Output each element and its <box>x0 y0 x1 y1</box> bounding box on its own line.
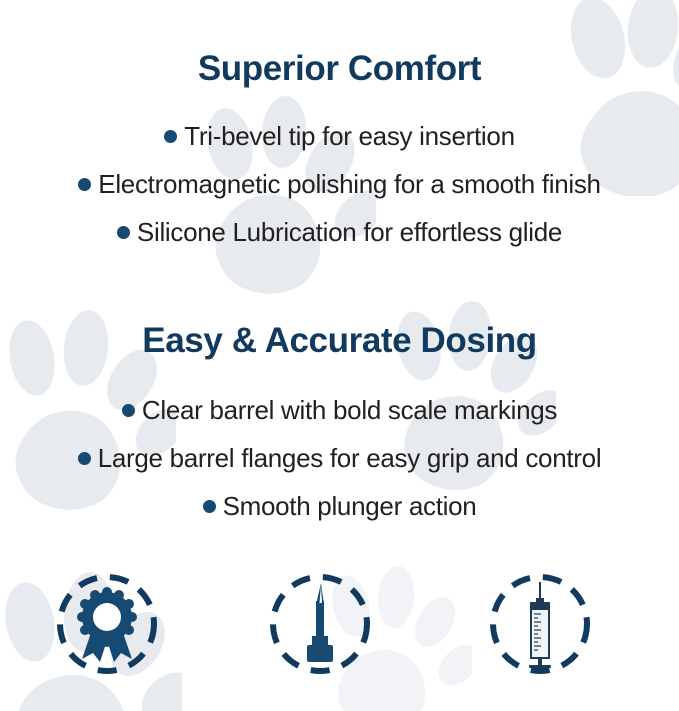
bullet-text: Clear barrel with bold scale markings <box>142 386 557 434</box>
bullet-list-comfort: Tri-bevel tip for easy insertion Electro… <box>0 112 679 256</box>
bullet-dot-icon <box>164 130 177 143</box>
section-heading-dosing: Easy & Accurate Dosing <box>0 318 679 364</box>
section-heading-comfort: Superior Comfort <box>0 46 679 92</box>
bullet-text: Electromagnetic polishing for a smooth f… <box>98 160 600 208</box>
list-item: Large barrel flanges for easy grip and c… <box>0 434 679 482</box>
list-item: Clear barrel with bold scale markings <box>0 386 679 434</box>
bullet-text: Smooth plunger action <box>223 482 477 530</box>
syringe-icon <box>481 565 599 683</box>
bullet-dot-icon <box>122 404 135 417</box>
feature-icon-row <box>0 565 679 690</box>
list-item: Smooth plunger action <box>0 482 679 530</box>
bullet-dot-icon <box>117 226 130 239</box>
list-item: Tri-bevel tip for easy insertion <box>0 112 679 160</box>
award-ribbon-icon <box>48 565 166 683</box>
section-easy-accurate-dosing: Easy & Accurate Dosing Clear barrel with… <box>0 318 679 530</box>
product-feature-panel: Superior Comfort Tri-bevel tip for easy … <box>0 0 679 711</box>
section-superior-comfort: Superior Comfort Tri-bevel tip for easy … <box>0 46 679 256</box>
bullet-dot-icon <box>78 452 91 465</box>
bullet-text: Large barrel flanges for easy grip and c… <box>98 434 602 482</box>
list-item: Electromagnetic polishing for a smooth f… <box>0 160 679 208</box>
panel-content: Superior Comfort Tri-bevel tip for easy … <box>0 0 679 711</box>
needle-tip-icon <box>261 565 379 683</box>
bullet-text: Silicone Lubrication for effortless glid… <box>137 208 562 256</box>
list-item: Silicone Lubrication for effortless glid… <box>0 208 679 256</box>
bullet-list-dosing: Clear barrel with bold scale markings La… <box>0 386 679 530</box>
bullet-dot-icon <box>203 500 216 513</box>
bullet-text: Tri-bevel tip for easy insertion <box>184 112 514 160</box>
bullet-dot-icon <box>78 178 91 191</box>
